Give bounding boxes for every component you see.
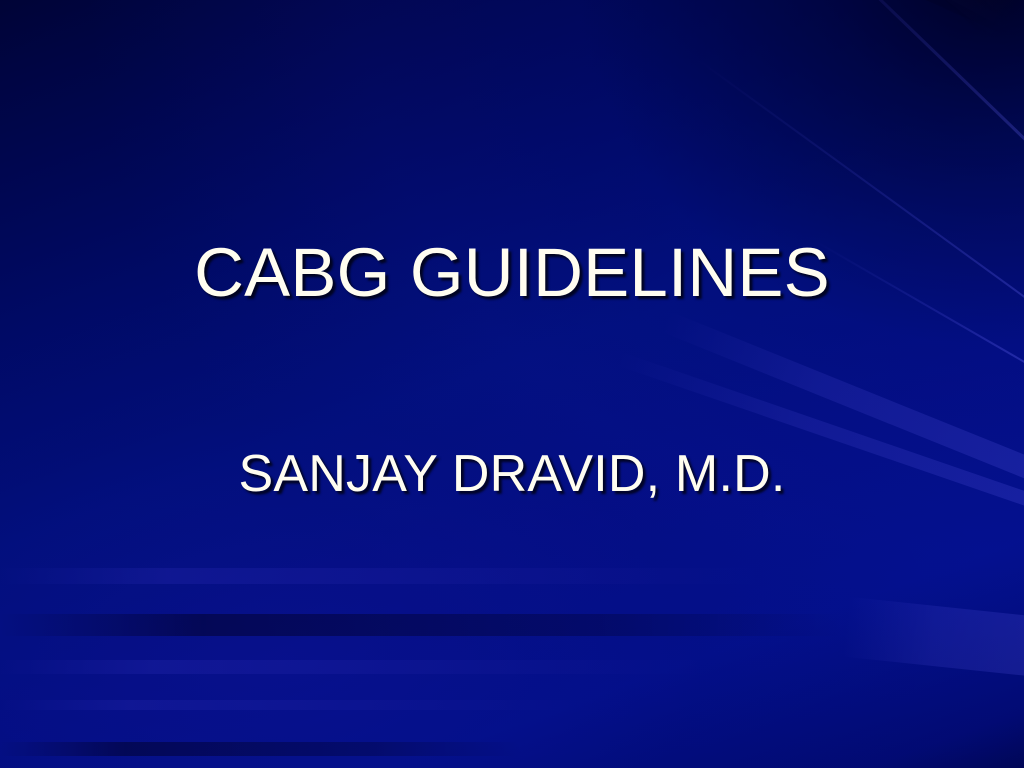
title-placeholder: CABG GUIDELINES xyxy=(0,238,1024,307)
page-subtitle: SANJAY DRAVID, M.D. xyxy=(238,448,785,500)
slide-content: CABG GUIDELINES SANJAY DRAVID, M.D. xyxy=(0,0,1024,768)
presentation-slide: CABG GUIDELINES SANJAY DRAVID, M.D. xyxy=(0,0,1024,768)
subtitle-placeholder: SANJAY DRAVID, M.D. xyxy=(0,448,1024,500)
page-title: CABG GUIDELINES xyxy=(194,238,830,307)
